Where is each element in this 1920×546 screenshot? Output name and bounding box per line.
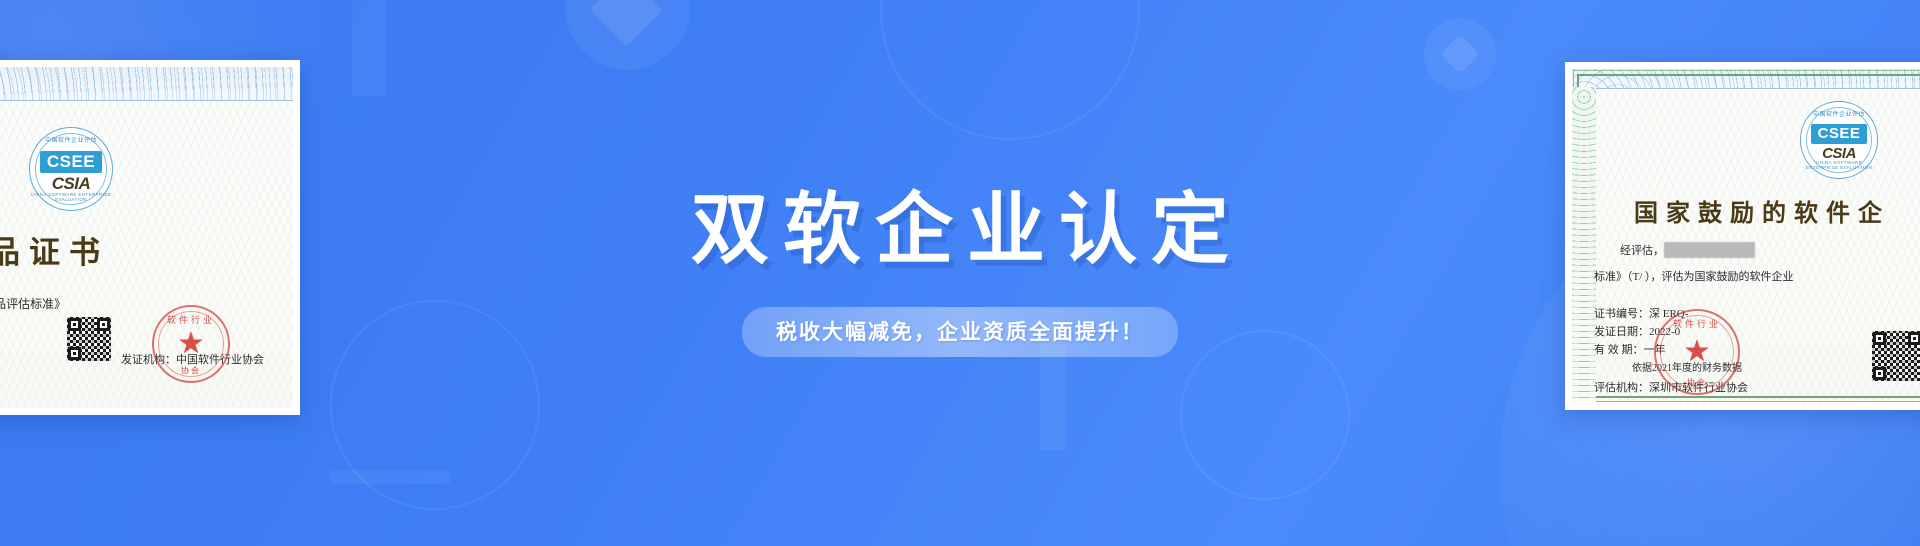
promo-banner: 中国软件企业评估 CSEE CSIA CHINA SOFTWARE ENTERP… (0, 0, 1920, 546)
page-title: 双软企业认定 (677, 189, 1243, 271)
banner-center-content: 双软企业认定 税收大幅减免，企业资质全面提升！ (0, 0, 1920, 546)
subtitle-badge: 税收大幅减免，企业资质全面提升！ (742, 307, 1178, 357)
